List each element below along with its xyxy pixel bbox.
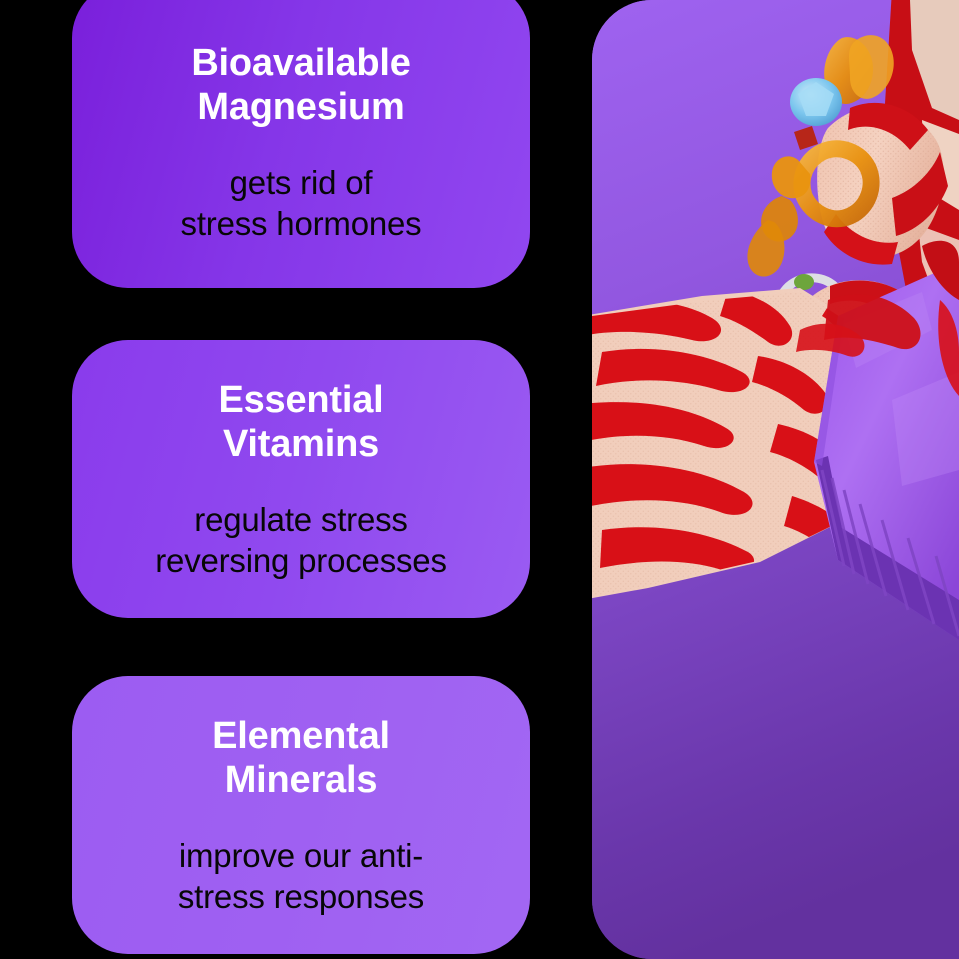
hero-photo-panel: [592, 0, 959, 959]
card-subtitle: improve our anti- stress responses: [178, 836, 424, 918]
hand-holding-purple-sachet-photo: [592, 0, 959, 959]
card-subtitle: regulate stress reversing processes: [155, 500, 447, 582]
promo-canvas: Bioavailable Magnesium gets rid of stres…: [0, 0, 959, 959]
card-title: Bioavailable Magnesium: [191, 41, 410, 129]
card-title: Elemental Minerals: [212, 714, 390, 802]
card-subtitle: gets rid of stress hormones: [181, 163, 422, 245]
benefit-card-essential-vitamins[interactable]: Essential Vitamins regulate stress rever…: [72, 340, 530, 618]
benefit-cards-column: Bioavailable Magnesium gets rid of stres…: [72, 0, 530, 959]
benefit-card-bioavailable-magnesium[interactable]: Bioavailable Magnesium gets rid of stres…: [72, 0, 530, 288]
card-title: Essential Vitamins: [218, 378, 383, 466]
green-gem: [794, 274, 814, 290]
benefit-card-elemental-minerals[interactable]: Elemental Minerals improve our anti- str…: [72, 676, 530, 954]
